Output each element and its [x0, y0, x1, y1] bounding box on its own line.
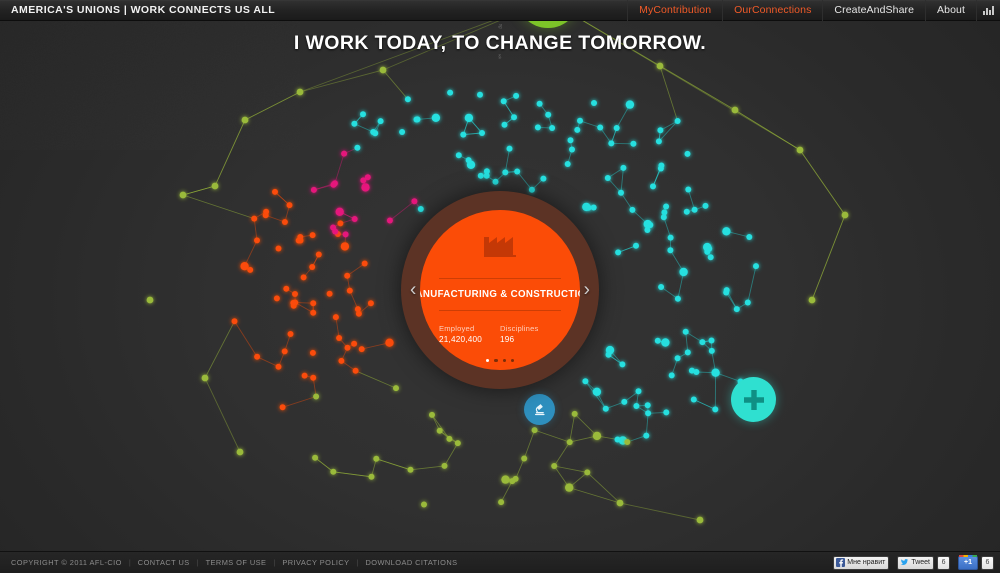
- graph-node[interactable]: [712, 406, 718, 412]
- chevron-down-icon[interactable]: ⱛ: [0, 54, 1000, 62]
- graph-node[interactable]: [549, 125, 555, 131]
- sector-dial: MANUFACTURING & CONSTRUCTION Employed 21…: [401, 191, 599, 389]
- graph-node[interactable]: [629, 207, 635, 213]
- graph-node[interactable]: [232, 318, 238, 324]
- graph-node[interactable]: [378, 118, 384, 124]
- graph-node[interactable]: [753, 263, 759, 269]
- nav-my-contribution[interactable]: MyContribution: [627, 0, 722, 21]
- graph-node[interactable]: [297, 234, 303, 240]
- graph-node[interactable]: [362, 261, 368, 267]
- twitter-bird-icon: [900, 558, 909, 567]
- graph-node[interactable]: [577, 118, 583, 124]
- carousel-dot[interactable]: [511, 359, 514, 362]
- graph-node[interactable]: [347, 288, 353, 294]
- graph-node[interactable]: [313, 394, 319, 400]
- site-brand: AMERICA'S UNIONS | WORK CONNECTS US ALL: [11, 4, 275, 16]
- graph-node[interactable]: [263, 209, 269, 215]
- graph-node[interactable]: [336, 335, 342, 341]
- graph-node[interactable]: [574, 127, 580, 133]
- footer-contact-us[interactable]: CONTACT US: [138, 558, 190, 567]
- graph-node[interactable]: [644, 227, 650, 233]
- graph-node[interactable]: [380, 67, 387, 74]
- dial-face: MANUFACTURING & CONSTRUCTION Employed 21…: [420, 210, 580, 370]
- graph-node[interactable]: [369, 474, 375, 480]
- graph-node[interactable]: [675, 296, 681, 302]
- graph-node[interactable]: [617, 500, 624, 507]
- graph-node[interactable]: [360, 177, 366, 183]
- graph-node[interactable]: [661, 214, 667, 220]
- google-color-strip: [959, 555, 977, 557]
- graph-node[interactable]: [385, 339, 393, 347]
- nav-create-and-share[interactable]: CreateAndShare: [822, 0, 925, 21]
- graph-node[interactable]: [310, 375, 316, 381]
- graph-node[interactable]: [341, 151, 347, 157]
- graph-node[interactable]: [290, 300, 296, 306]
- graph-node[interactable]: [368, 300, 374, 306]
- graph-node[interactable]: [344, 273, 350, 279]
- graph-node[interactable]: [242, 117, 249, 124]
- graph-node[interactable]: [330, 469, 336, 475]
- graph-node[interactable]: [658, 166, 664, 172]
- graph-node[interactable]: [477, 92, 483, 98]
- graph-node[interactable]: [711, 369, 719, 377]
- microscope-icon: [532, 402, 547, 417]
- graph-node[interactable]: [693, 369, 699, 375]
- google-plus-one-label: +1: [964, 559, 972, 566]
- graph-node[interactable]: [274, 295, 280, 301]
- graph-node[interactable]: [540, 176, 546, 182]
- graph-node[interactable]: [282, 219, 288, 225]
- graph-node[interactable]: [310, 350, 316, 356]
- graph-node[interactable]: [429, 412, 435, 418]
- graph-node[interactable]: [691, 397, 697, 403]
- graph-node[interactable]: [408, 467, 414, 473]
- footer-download-citations[interactable]: DOWNLOAD CITATIONS: [365, 558, 457, 567]
- graph-node[interactable]: [484, 173, 490, 179]
- stat-employed-label: Employed: [439, 324, 500, 334]
- graph-node[interactable]: [180, 192, 187, 199]
- graph-node[interactable]: [605, 175, 611, 181]
- graph-node[interactable]: [597, 125, 603, 131]
- graph-node[interactable]: [685, 187, 691, 193]
- graph-node[interactable]: [437, 428, 443, 434]
- graph-node[interactable]: [310, 300, 316, 306]
- graph-node[interactable]: [421, 502, 427, 508]
- footer-bar: COPYRIGHT © 2011 AFL-CIO | CONTACT US | …: [0, 551, 1000, 573]
- graph-node[interactable]: [675, 118, 681, 124]
- nav-links: MyContribution OurConnections CreateAndS…: [627, 0, 1000, 21]
- app-stage: AMERICA'S UNIONS | WORK CONNECTS US ALL …: [0, 0, 1000, 573]
- graph-node[interactable]: [633, 243, 639, 249]
- graph-node[interactable]: [699, 339, 705, 345]
- graph-node[interactable]: [657, 63, 664, 70]
- graph-node[interactable]: [724, 287, 730, 293]
- graph-node[interactable]: [316, 252, 322, 258]
- footer-separator: |: [129, 558, 131, 567]
- google-plus-one-count: 6: [981, 556, 994, 570]
- graph-node[interactable]: [745, 300, 751, 306]
- graph-node[interactable]: [636, 388, 642, 394]
- graph-node[interactable]: [493, 179, 499, 185]
- graph-node[interactable]: [282, 348, 288, 354]
- graph-node[interactable]: [734, 306, 740, 312]
- graph-node[interactable]: [593, 432, 601, 440]
- graph-node[interactable]: [353, 368, 359, 374]
- graph-node[interactable]: [511, 114, 517, 120]
- graph-node[interactable]: [603, 406, 609, 412]
- graph-node[interactable]: [668, 235, 674, 241]
- graph-node[interactable]: [283, 286, 289, 292]
- graph-node[interactable]: [645, 410, 651, 416]
- graph-node[interactable]: [393, 385, 399, 391]
- graph-node[interactable]: [797, 147, 804, 154]
- graph-node[interactable]: [372, 130, 378, 136]
- footer-separator: |: [273, 558, 275, 567]
- factory-icon: [484, 231, 516, 262]
- graph-node[interactable]: [501, 98, 507, 104]
- dial-sector-title: MANUFACTURING & CONSTRUCTION: [420, 279, 580, 310]
- google-plus-one-button[interactable]: +1: [958, 556, 978, 570]
- graph-node[interactable]: [732, 107, 739, 114]
- graph-node[interactable]: [709, 338, 715, 344]
- graph-node[interactable]: [615, 437, 621, 443]
- graph-node[interactable]: [254, 237, 260, 243]
- graph-node[interactable]: [663, 409, 669, 415]
- graph-node[interactable]: [502, 169, 508, 175]
- graph-node[interactable]: [621, 399, 627, 405]
- graph-node[interactable]: [507, 146, 513, 152]
- footer-separator: |: [197, 558, 199, 567]
- twitter-tweet-count: 6: [937, 556, 950, 570]
- graph-node[interactable]: [535, 124, 541, 130]
- graph-node[interactable]: [591, 100, 597, 106]
- graph-node[interactable]: [351, 121, 357, 127]
- graph-node[interactable]: [679, 268, 687, 276]
- graph-node[interactable]: [615, 249, 621, 255]
- chart-bars-icon[interactable]: [976, 0, 1000, 21]
- graph-node[interactable]: [657, 127, 663, 133]
- graph-node[interactable]: [147, 297, 154, 304]
- graph-node[interactable]: [338, 358, 344, 364]
- graph-node[interactable]: [842, 212, 849, 219]
- graph-node[interactable]: [703, 203, 709, 209]
- graph-node[interactable]: [513, 476, 519, 482]
- nav-our-connections[interactable]: OurConnections: [722, 0, 822, 21]
- graph-node[interactable]: [280, 404, 286, 410]
- graph-node[interactable]: [355, 306, 361, 312]
- graph-node[interactable]: [633, 403, 639, 409]
- graph-node[interactable]: [661, 338, 669, 346]
- graph-node[interactable]: [513, 93, 519, 99]
- graph-node[interactable]: [456, 152, 462, 158]
- graph-node[interactable]: [288, 331, 294, 337]
- graph-node[interactable]: [272, 189, 278, 195]
- graph-node[interactable]: [620, 165, 626, 171]
- graph-node[interactable]: [361, 183, 369, 191]
- graph-node[interactable]: [498, 499, 504, 505]
- twitter-tweet-label: Tweet: [911, 559, 930, 566]
- graph-node[interactable]: [465, 114, 473, 122]
- stat-disciplines-label: Disciplines: [500, 324, 561, 334]
- graph-node[interactable]: [606, 352, 612, 358]
- graph-node[interactable]: [442, 463, 448, 469]
- graph-node[interactable]: [336, 208, 344, 216]
- graph-node[interactable]: [373, 456, 379, 462]
- footer-links: COPYRIGHT © 2011 AFL-CIO | CONTACT US | …: [11, 558, 457, 567]
- graph-node[interactable]: [405, 96, 411, 102]
- graph-node[interactable]: [337, 220, 343, 226]
- graph-node[interactable]: [684, 209, 690, 215]
- carousel-dots: [486, 359, 515, 362]
- graph-node[interactable]: [415, 116, 421, 122]
- graph-node[interactable]: [341, 242, 349, 250]
- graph-node[interactable]: [685, 349, 691, 355]
- graph-node[interactable]: [619, 361, 625, 367]
- nav-about[interactable]: About: [925, 0, 976, 21]
- graph-node[interactable]: [692, 207, 698, 213]
- graph-node[interactable]: [331, 182, 337, 188]
- graph-node[interactable]: [697, 517, 704, 524]
- facebook-like-button[interactable]: Мне нравит: [833, 556, 889, 570]
- headline-block: ⱏ I WORK TODAY, TO CHANGE TOMORROW. ⱛ: [0, 24, 1000, 62]
- graph-node[interactable]: [432, 114, 440, 122]
- graph-node[interactable]: [608, 140, 614, 146]
- graph-node[interactable]: [202, 375, 209, 382]
- graph-node[interactable]: [345, 345, 351, 351]
- graph-node[interactable]: [467, 161, 475, 169]
- graph-node[interactable]: [626, 100, 634, 108]
- graph-node[interactable]: [502, 122, 508, 128]
- graph-node[interactable]: [567, 439, 573, 445]
- graph-node[interactable]: [455, 440, 461, 446]
- graph-node[interactable]: [675, 355, 681, 361]
- graph-node[interactable]: [333, 314, 339, 320]
- graph-node[interactable]: [311, 187, 317, 193]
- graph-node[interactable]: [354, 145, 360, 151]
- sector-node-science[interactable]: [524, 394, 555, 425]
- graph-node[interactable]: [359, 346, 365, 352]
- carousel-dot[interactable]: [494, 359, 497, 362]
- facebook-icon: [836, 558, 845, 567]
- carousel-dot[interactable]: [503, 359, 506, 362]
- graph-node[interactable]: [460, 132, 466, 138]
- graph-node[interactable]: [569, 147, 575, 153]
- graph-node[interactable]: [247, 267, 253, 273]
- graph-node[interactable]: [669, 372, 675, 378]
- graph-node[interactable]: [310, 232, 316, 238]
- graph-node[interactable]: [478, 173, 484, 179]
- graph-node[interactable]: [568, 137, 574, 143]
- graph-node[interactable]: [656, 138, 662, 144]
- graph-node[interactable]: [287, 202, 293, 208]
- graph-node[interactable]: [667, 247, 673, 253]
- graph-node[interactable]: [514, 169, 520, 175]
- graph-node[interactable]: [545, 112, 551, 118]
- graph-node[interactable]: [237, 449, 244, 456]
- graph-node[interactable]: [663, 204, 669, 210]
- facebook-like-label: Мне нравит: [847, 559, 885, 566]
- graph-node[interactable]: [624, 439, 630, 445]
- dial-stats: Employed 21,420,400 Disciplines 196: [439, 324, 561, 345]
- graph-node[interactable]: [746, 234, 752, 240]
- graph-node[interactable]: [683, 329, 689, 335]
- chevron-up-icon[interactable]: ⱏ: [0, 24, 1000, 32]
- graph-node[interactable]: [565, 161, 571, 167]
- dial-prev-button[interactable]: ‹: [410, 281, 416, 300]
- graph-node[interactable]: [327, 291, 333, 297]
- graph-node[interactable]: [309, 264, 315, 270]
- graph-node[interactable]: [572, 411, 578, 417]
- graph-node[interactable]: [251, 216, 257, 222]
- graph-node[interactable]: [650, 183, 656, 189]
- graph-node[interactable]: [447, 90, 453, 96]
- graph-node[interactable]: [685, 151, 691, 157]
- graph-node[interactable]: [722, 227, 730, 235]
- graph-node[interactable]: [254, 354, 260, 360]
- graph-node[interactable]: [565, 483, 573, 491]
- graph-node[interactable]: [532, 427, 538, 433]
- carousel-dot[interactable]: [486, 359, 489, 362]
- graph-node[interactable]: [643, 433, 649, 439]
- graph-node[interactable]: [584, 469, 590, 475]
- stat-employed-value: 21,420,400: [439, 334, 500, 345]
- graph-node[interactable]: [312, 455, 318, 461]
- footer-terms-of-use[interactable]: TERMS OF USE: [206, 558, 267, 567]
- graph-node[interactable]: [809, 297, 816, 304]
- dial-rule-bottom: [439, 310, 561, 311]
- medical-cross-icon: [742, 388, 766, 412]
- graph-node[interactable]: [706, 246, 712, 252]
- sector-node-health[interactable]: [731, 377, 776, 422]
- graph-node[interactable]: [479, 130, 485, 136]
- social-buttons: Мне нравит Tweet 6 +1 6: [833, 556, 994, 570]
- graph-node[interactable]: [343, 231, 349, 237]
- top-navigation-bar: AMERICA'S UNIONS | WORK CONNECTS US ALL …: [0, 0, 1000, 21]
- graph-node[interactable]: [399, 129, 405, 135]
- graph-node[interactable]: [551, 463, 557, 469]
- graph-node[interactable]: [630, 141, 636, 147]
- graph-node[interactable]: [614, 125, 620, 131]
- stat-disciplines-value: 196: [500, 334, 561, 345]
- graph-node[interactable]: [332, 229, 338, 235]
- graph-node[interactable]: [292, 291, 298, 297]
- graph-node[interactable]: [709, 348, 715, 354]
- footer-separator: |: [357, 558, 359, 567]
- graph-node[interactable]: [446, 436, 452, 442]
- graph-node[interactable]: [655, 338, 661, 344]
- dial-next-button[interactable]: ›: [584, 281, 590, 300]
- graph-node[interactable]: [212, 183, 219, 190]
- graph-node[interactable]: [645, 402, 651, 408]
- footer-privacy-policy[interactable]: PRIVACY POLICY: [282, 558, 349, 567]
- graph-node[interactable]: [501, 475, 509, 483]
- graph-node[interactable]: [297, 89, 304, 96]
- graph-node[interactable]: [351, 341, 357, 347]
- stat-disciplines: Disciplines 196: [500, 324, 561, 345]
- graph-node[interactable]: [618, 190, 624, 196]
- graph-node[interactable]: [537, 101, 543, 107]
- graph-node[interactable]: [360, 111, 366, 117]
- graph-node[interactable]: [352, 216, 358, 222]
- graph-node[interactable]: [276, 246, 282, 252]
- graph-node[interactable]: [276, 364, 282, 370]
- stat-employed: Employed 21,420,400: [439, 324, 500, 345]
- graph-node[interactable]: [301, 274, 307, 280]
- graph-node[interactable]: [521, 456, 527, 462]
- graph-node[interactable]: [708, 254, 714, 260]
- footer-copyright: COPYRIGHT © 2011 AFL-CIO: [11, 558, 122, 567]
- twitter-tweet-button[interactable]: Tweet: [897, 556, 934, 570]
- graph-node[interactable]: [658, 284, 664, 290]
- graph-node[interactable]: [310, 310, 316, 316]
- graph-node[interactable]: [302, 373, 308, 379]
- page-title: I WORK TODAY, TO CHANGE TOMORROW.: [0, 32, 1000, 54]
- graph-node[interactable]: [387, 218, 393, 224]
